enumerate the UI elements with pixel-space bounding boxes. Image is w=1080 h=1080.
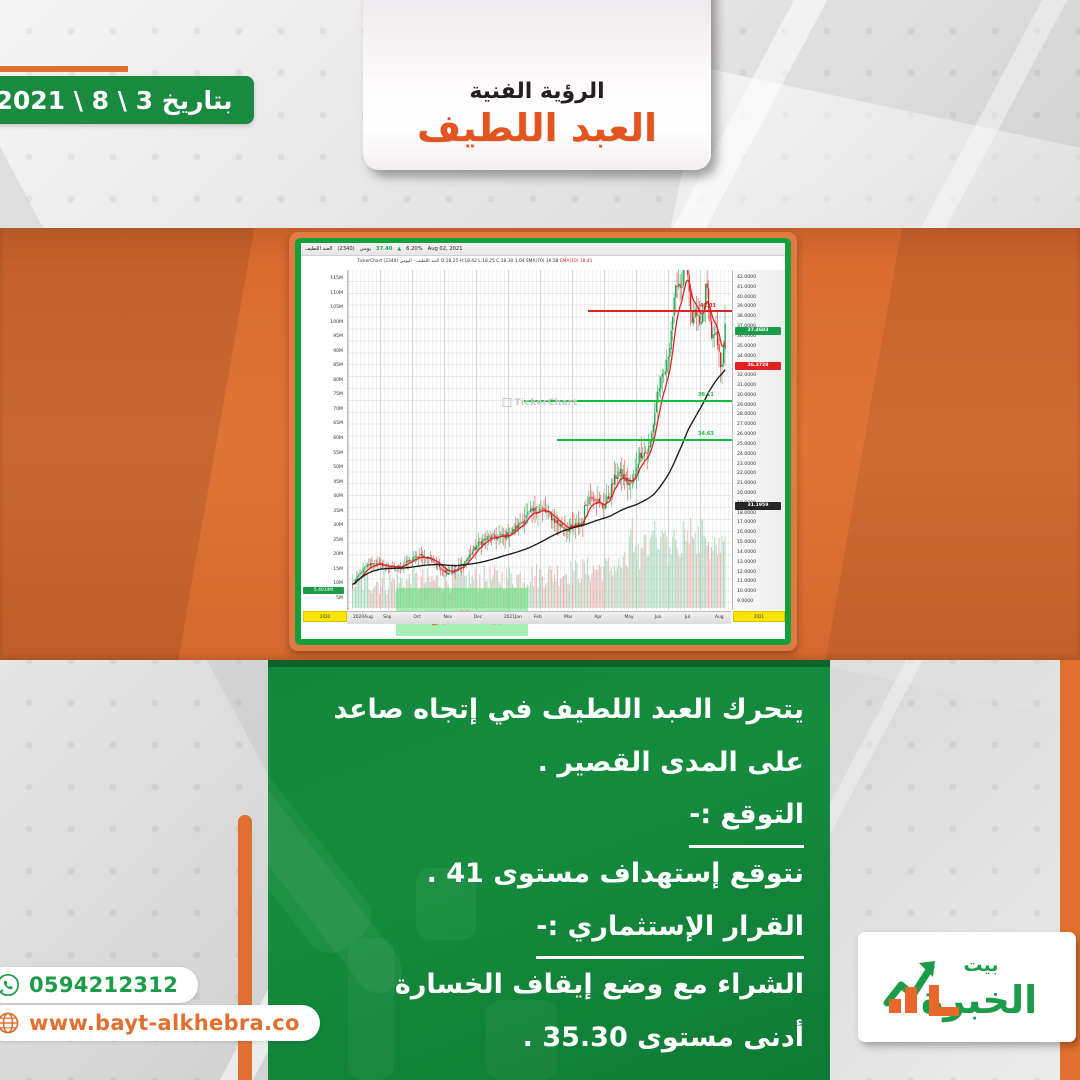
contact-website-label: www.bayt-alkhebra.co <box>29 1011 300 1035</box>
legend-ema-label: EMA(10) <box>560 259 579 264</box>
ema-price-badge: 37.4603 <box>735 327 781 335</box>
volume-tick: 115M <box>330 276 343 281</box>
price-tick: 35.0000 <box>737 344 756 349</box>
volume-tick: 50M <box>333 465 343 470</box>
date-tick: Mar <box>564 615 572 620</box>
chart-date: Aug 02, 2021 <box>428 246 463 252</box>
price-tick: 16.0000 <box>737 530 756 535</box>
analysis-line-2: على المدى القصير . <box>294 737 804 790</box>
analysis-heading-1-wrap: التوقع :- <box>294 789 804 848</box>
volume-tick: 20M <box>333 552 343 557</box>
date-axis: 2020AugSepOctNovDec2021JanFebMarAprMayJu… <box>347 611 731 624</box>
volume-tick: 75M <box>333 392 343 397</box>
price-tick: 25.0000 <box>737 442 756 447</box>
tickerchart-watermark-label: TickerChart <box>514 398 577 408</box>
price-tick: 13.0000 <box>737 560 756 565</box>
date-badge: بتاريخ 3 \ 8 \ 2021 <box>0 76 254 124</box>
legend-sma-label: SMA(70) <box>526 259 545 264</box>
legend-series-label: العبد اللطيف - اليومي <box>400 259 440 264</box>
logo-word-top: بيت <box>963 954 998 976</box>
contact-phone[interactable]: 0594212312 <box>0 967 198 1003</box>
price-tick: 28.0000 <box>737 412 756 417</box>
tickerchart-logo-icon <box>502 398 511 407</box>
globe-icon <box>0 1011 20 1035</box>
analysis-line-1: يتحرك العبد اللطيف في إتجاه صاعد <box>294 684 804 737</box>
date-badge-label: بتاريخ 3 \ 8 \ 2021 <box>0 86 232 115</box>
volume-tick: 15M <box>333 567 343 572</box>
date-tick: Apr <box>594 615 602 620</box>
analysis-panel: يتحرك العبد اللطيف في إتجاه صاعد على الم… <box>268 660 830 1080</box>
chart-toolbar: العبد اللطيف (2340) يومي 37.40 ▲ 6.20% A… <box>301 243 785 256</box>
price-tick: 41.0000 <box>737 285 756 290</box>
card-title: العبد اللطيف <box>417 106 657 150</box>
price-tick: 23.0000 <box>737 462 756 467</box>
chart-plot-area[interactable]: بيت الخبرة 41.03 36.11 34.63 TickerChart <box>347 270 733 610</box>
analysis-heading-2: القرار الإستثماري :- <box>536 901 804 960</box>
brand-logo-card: بيت الخبرة <box>858 932 1076 1042</box>
date-tick: Jun <box>655 615 662 620</box>
price-tick: 29.0000 <box>737 403 756 408</box>
date-tick: Oct <box>413 615 421 620</box>
resistance-line-label: 41.03 <box>700 303 716 309</box>
volume-tick: 110M <box>330 291 343 296</box>
support-line-upper-label: 36.11 <box>698 392 714 398</box>
date-tick: 2021Jan <box>504 615 522 620</box>
volume-tick: 55M <box>333 451 343 456</box>
analysis-text: يتحرك العبد اللطيف في إتجاه صاعد على الم… <box>294 684 804 1064</box>
chart-timeframe: يومي <box>360 246 371 252</box>
date-rule <box>0 66 128 72</box>
date-tick: Dec <box>474 615 483 620</box>
volume-tick: 80M <box>333 378 343 383</box>
price-tick: 34.0000 <box>737 354 756 359</box>
price-tick: 40.0000 <box>737 295 756 300</box>
volume-tick: 95M <box>333 334 343 339</box>
price-tick: 36.0000 <box>737 334 756 339</box>
date-axis-right-tag: 2021 <box>733 611 785 622</box>
price-tick: 26.0000 <box>737 432 756 437</box>
price-tick: 18.0000 <box>737 511 756 516</box>
chart-last-price: 37.40 <box>376 246 392 252</box>
volume-tick: 100M <box>330 320 343 325</box>
price-tick: 15.0000 <box>737 540 756 545</box>
volume-current-badge: 5.4034M <box>303 587 344 594</box>
price-axis: 42.000041.000040.000039.000038.000037.00… <box>732 270 785 610</box>
volume-tick: 10M <box>333 581 343 586</box>
chart-symbol-name: العبد اللطيف <box>305 246 332 252</box>
volume-tick: 30M <box>333 523 343 528</box>
price-tick: 9.0000 <box>737 599 753 604</box>
price-tick: 22.0000 <box>737 471 756 476</box>
price-tick: 27.0000 <box>737 422 756 427</box>
date-tick: May <box>625 615 634 620</box>
legend-series-code: (2340) <box>384 259 399 264</box>
price-tick: 12.0000 <box>737 570 756 575</box>
volume-axis: 115M110M105M100M95M90M85M80M75M70M65M60M… <box>301 270 346 610</box>
chart-symbol-code: (2340) <box>337 246 354 252</box>
price-tick: 17.0000 <box>737 520 756 525</box>
price-tick: 31.0000 <box>737 383 756 388</box>
chart-up-arrow-icon: ▲ <box>397 246 401 252</box>
card-subtitle: الرؤية الفنية <box>469 79 604 104</box>
volume-tick: 45M <box>333 480 343 485</box>
sma-price-badge: 31.1959 <box>735 502 781 510</box>
resistance-line <box>588 310 732 312</box>
support-line-lower-label: 34.63 <box>698 431 714 437</box>
analysis-line-5: أدنى مستوى 35.30 . <box>294 1012 804 1065</box>
support-line-lower <box>557 439 732 441</box>
analysis-heading-2-wrap: القرار الإستثماري :- <box>294 901 804 960</box>
poster-root: بتاريخ 3 \ 8 \ 2021 الرؤية الفنية العبد … <box>0 0 1080 1080</box>
volume-tick: 35M <box>333 509 343 514</box>
date-axis-left-tag: 2020 <box>303 611 347 622</box>
volume-tick: 40M <box>333 494 343 499</box>
last-price-badge: 36.3729 <box>735 362 781 370</box>
price-tick: 14.0000 <box>737 550 756 555</box>
legend-ema-value: 18.41 <box>580 259 593 264</box>
legend-volume: 1.04 <box>515 259 525 264</box>
chart-legend: TickerChart العبد اللطيف - اليومي (2340)… <box>357 259 757 268</box>
price-tick: 32.0000 <box>737 373 756 378</box>
price-tick: 10.0000 <box>737 589 756 594</box>
chart-change-percent: 6.20% <box>406 246 422 252</box>
date-tick: Jul <box>685 615 690 620</box>
title-card: الرؤية الفنية العبد اللطيف <box>363 0 711 170</box>
price-tick: 39.0000 <box>737 304 756 309</box>
date-tick: Nov <box>444 615 453 620</box>
date-tick: Feb <box>534 615 542 620</box>
analysis-line-4: الشراء مع وضع إيقاف الخسارة <box>294 959 804 1012</box>
date-tick: 2020Aug <box>353 615 373 620</box>
date-tick: Aug <box>715 615 724 620</box>
analysis-line-3: نتوقع إستهداف مستوى 41 . <box>294 848 804 901</box>
volume-tick: 65M <box>333 421 343 426</box>
volume-tick: 105M <box>330 305 343 310</box>
bayt-alkhebra-logo: بيت الخبرة <box>869 941 1065 1033</box>
legend-provider: TickerChart <box>357 259 382 264</box>
legend-ohlc: O:18.25 H:18.42 L:18.25 C:18.30 <box>441 259 514 264</box>
price-tick: 24.0000 <box>737 452 756 457</box>
volume-tick: 25M <box>333 538 343 543</box>
whatsapp-icon <box>0 973 20 997</box>
volume-tick: 60M <box>333 436 343 441</box>
price-tick: 20.0000 <box>737 491 756 496</box>
analysis-heading-1: التوقع :- <box>689 789 804 848</box>
price-tick: 38.0000 <box>737 314 756 319</box>
price-tick: 42.0000 <box>737 275 756 280</box>
volume-tick: 5M <box>336 596 343 601</box>
contact-website[interactable]: www.bayt-alkhebra.co <box>0 1005 320 1041</box>
price-tick: 30.0000 <box>737 393 756 398</box>
volume-tick: 85M <box>333 363 343 368</box>
legend-sma-value: 16.58 <box>546 259 559 264</box>
date-tick: Sep <box>383 615 391 620</box>
contact-phone-label: 0594212312 <box>29 973 178 997</box>
price-tick: 21.0000 <box>737 481 756 486</box>
price-tick: 11.0000 <box>737 579 756 584</box>
volume-tick: 90M <box>333 349 343 354</box>
volume-tick: 70M <box>333 407 343 412</box>
chart-canvas[interactable]: العبد اللطيف (2340) يومي 37.40 ▲ 6.20% A… <box>301 243 785 639</box>
tickerchart-watermark: TickerChart <box>502 398 577 408</box>
